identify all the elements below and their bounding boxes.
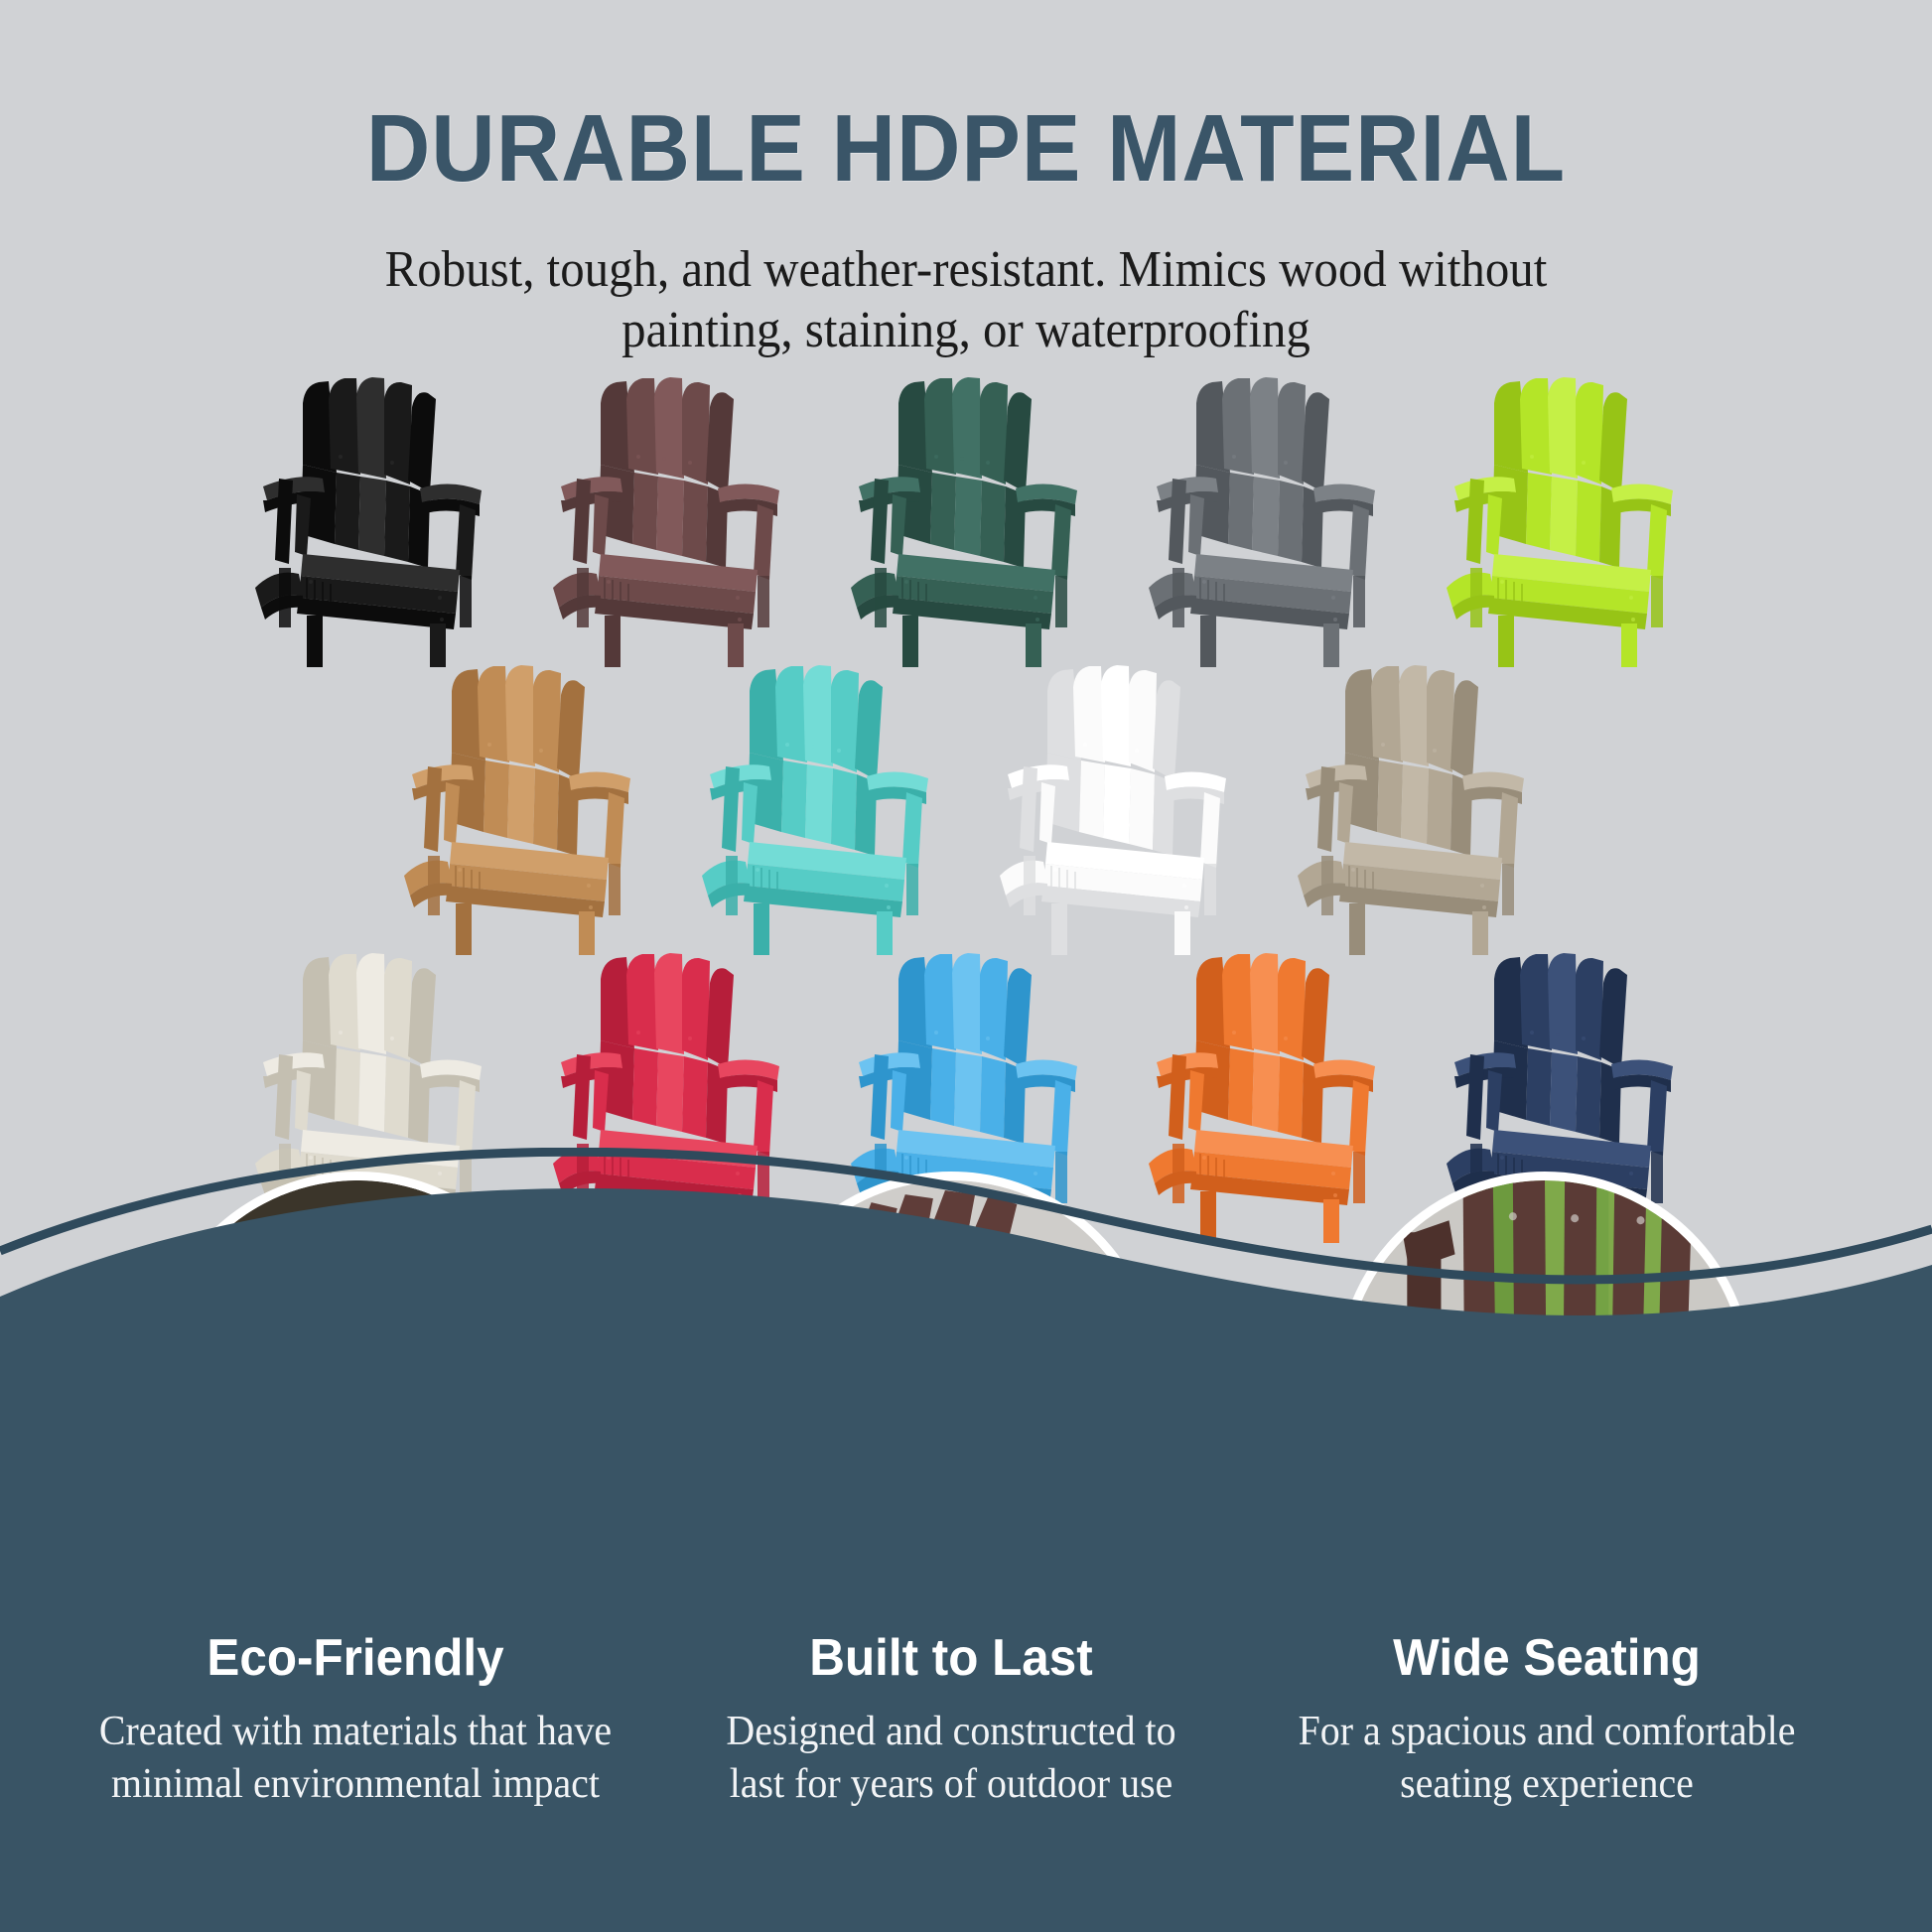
subtitle-line-2: painting, staining, or waterproofing bbox=[621, 302, 1311, 358]
chair-swatch-svg bbox=[245, 369, 495, 667]
chair-swatch-svg bbox=[990, 657, 1240, 955]
feature-desc-line-2: seating experience bbox=[1400, 1761, 1694, 1807]
chair-swatch-svg bbox=[841, 369, 1091, 667]
feature-title: Wide Seating bbox=[1255, 1628, 1840, 1688]
chair-swatch-svg bbox=[1437, 369, 1687, 667]
chair-arm-right bbox=[1313, 1059, 1375, 1156]
feature-text-block: Eco-Friendly Created with materials that… bbox=[0, 1628, 1932, 1906]
chair-arm-right bbox=[1611, 1059, 1673, 1156]
chair-row-2 bbox=[0, 657, 1932, 955]
chair-swatch-brown[interactable] bbox=[519, 369, 817, 667]
chair-swatch-svg bbox=[692, 657, 942, 955]
feature-title: Built to Last bbox=[659, 1628, 1244, 1688]
subtitle-line-1: Robust, tough, and weather-resistant. Mi… bbox=[385, 241, 1548, 298]
chair-color-grid bbox=[0, 369, 1932, 1253]
feature-eco-friendly: Eco-Friendly Created with materials that… bbox=[48, 1628, 663, 1810]
page-subtitle: Robust, tough, and weather-resistant. Mi… bbox=[58, 204, 1873, 361]
feature-desc-line-1: For a spacious and comfortable bbox=[1299, 1709, 1796, 1754]
infographic-page: DURABLE HDPE MATERIAL Robust, tough, and… bbox=[0, 0, 1932, 1932]
chair-swatch-svg bbox=[1139, 369, 1389, 667]
header: DURABLE HDPE MATERIAL Robust, tough, and… bbox=[0, 0, 1932, 361]
chair-arm-right bbox=[1016, 1059, 1077, 1156]
feature-desc-line-2: last for years of outdoor use bbox=[730, 1761, 1173, 1807]
feature-desc-line-1: Created with materials that have bbox=[99, 1709, 612, 1754]
feature-built-to-last: Built to Last Designed and constructed t… bbox=[643, 1628, 1259, 1810]
feature-title: Eco-Friendly bbox=[64, 1628, 648, 1688]
feature-wide-seating: Wide Seating For a spacious and comforta… bbox=[1239, 1628, 1855, 1810]
chair-arm-right bbox=[1165, 771, 1226, 868]
feature-description: Designed and constructed to last for yea… bbox=[659, 1688, 1244, 1810]
chair-swatch-white[interactable] bbox=[966, 657, 1264, 955]
chair-arm-right bbox=[718, 1059, 779, 1156]
chair-arm-right bbox=[1611, 483, 1673, 580]
chair-arm-right bbox=[569, 771, 630, 868]
chair-swatch-turquoise[interactable] bbox=[668, 657, 966, 955]
feature-description: For a spacious and comfortable seating e… bbox=[1255, 1688, 1840, 1810]
chair-swatch-khaki[interactable] bbox=[1264, 657, 1562, 955]
chair-swatch-lime-green[interactable] bbox=[1413, 369, 1711, 667]
chair-swatch-svg bbox=[1288, 657, 1538, 955]
feature-description: Created with materials that have minimal… bbox=[64, 1688, 648, 1810]
chair-swatch-gray[interactable] bbox=[1115, 369, 1413, 667]
chair-swatch-svg bbox=[394, 657, 644, 955]
wave-divider bbox=[0, 1148, 1932, 1446]
chair-arm-right bbox=[420, 483, 482, 580]
feature-desc-line-1: Designed and constructed to bbox=[726, 1709, 1175, 1754]
chair-arm-right bbox=[1313, 483, 1375, 580]
page-title: DURABLE HDPE MATERIAL bbox=[68, 0, 1864, 204]
chair-row-1 bbox=[0, 369, 1932, 667]
chair-arm-right bbox=[420, 1059, 482, 1156]
chair-arm-right bbox=[1462, 771, 1524, 868]
chair-arm-right bbox=[867, 771, 928, 868]
chair-swatch-svg bbox=[543, 369, 793, 667]
chair-swatch-black[interactable] bbox=[221, 369, 519, 667]
chair-arm-right bbox=[1016, 483, 1077, 580]
chair-arm-right bbox=[718, 483, 779, 580]
feature-desc-line-2: minimal environmental impact bbox=[111, 1761, 600, 1807]
chair-swatch-dark-green[interactable] bbox=[817, 369, 1115, 667]
chair-swatch-teak[interactable] bbox=[370, 657, 668, 955]
